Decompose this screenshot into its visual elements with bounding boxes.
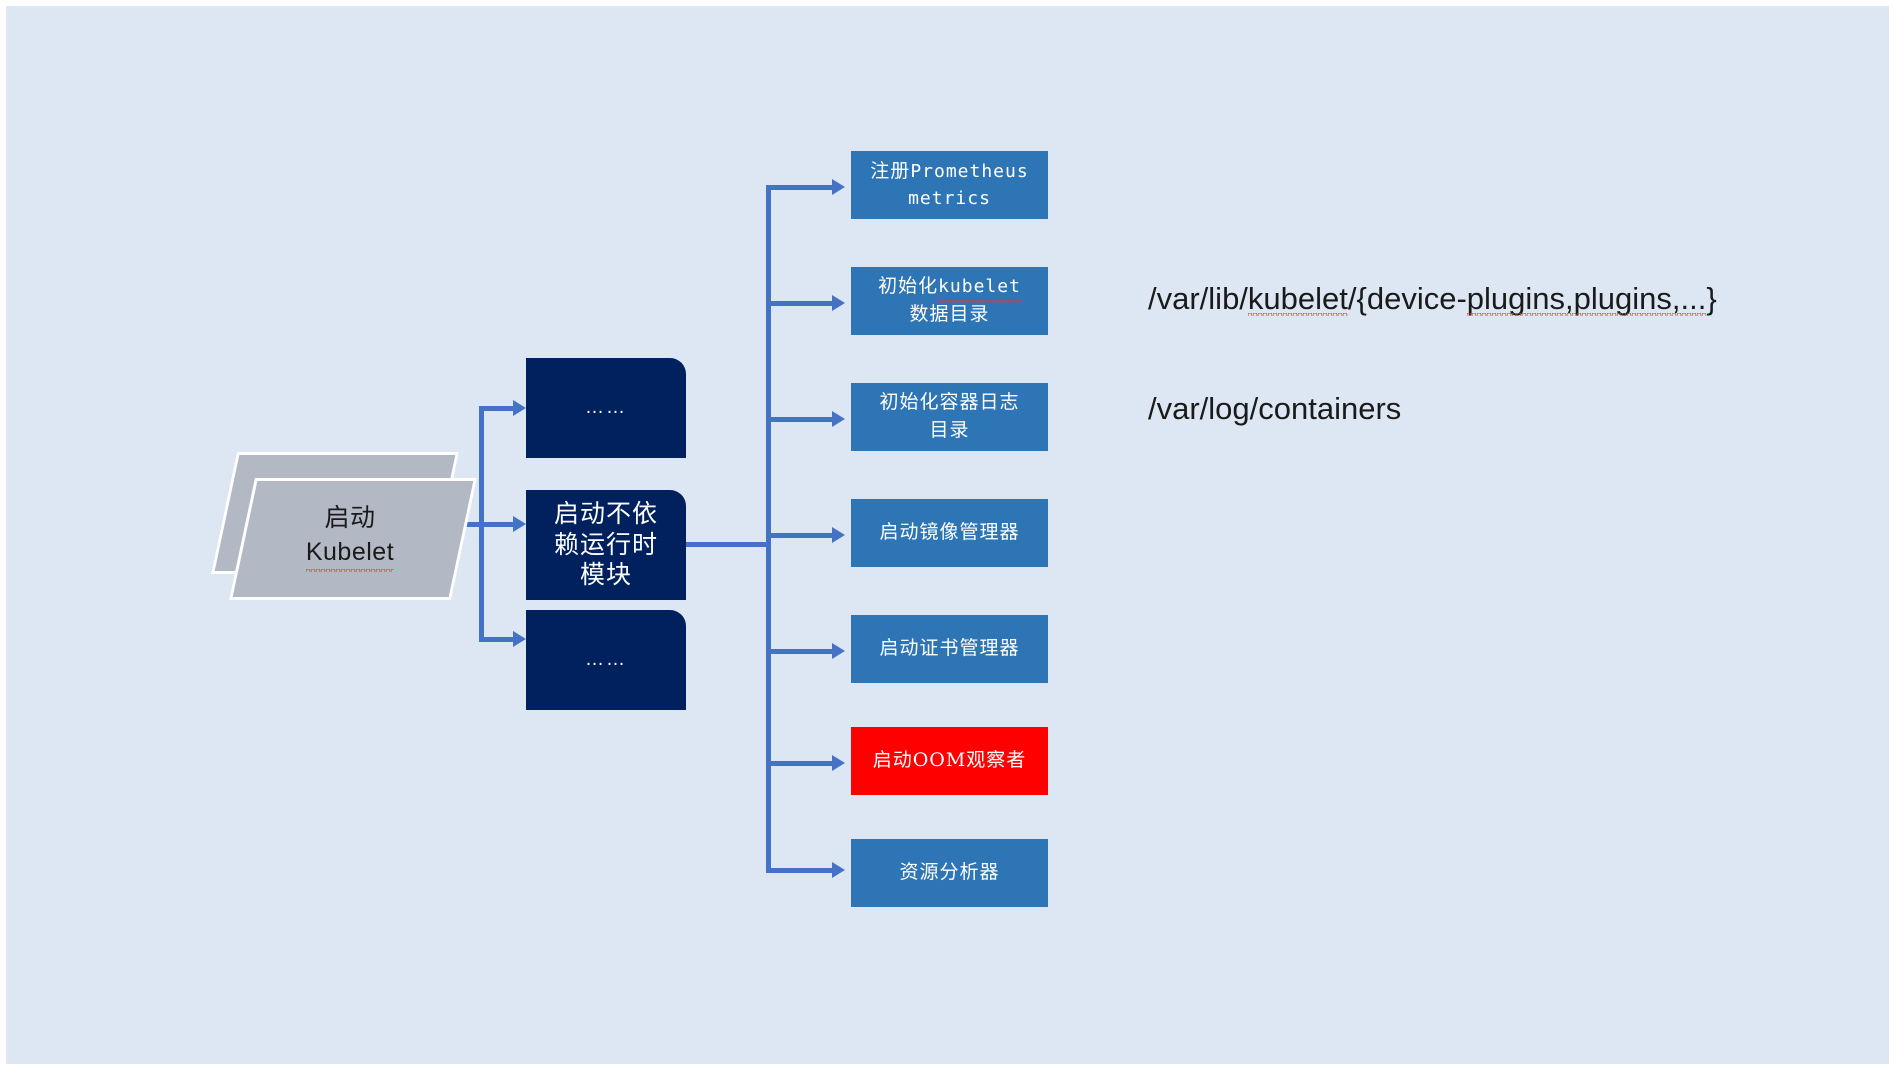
- stage-node-label: ……: [585, 648, 627, 671]
- connector-branch-task-0: [766, 185, 838, 190]
- task-node-line1: 注册Prometheus: [870, 158, 1028, 186]
- start-node-line2-wrap: Kubelet: [306, 536, 394, 570]
- task-node-init-kubelet-data-dir[interactable]: 初始化kubelet 数据目录: [851, 267, 1048, 335]
- stage-node-ellipsis-top[interactable]: ……: [526, 358, 686, 458]
- start-node-line2: Kubelet: [306, 538, 394, 566]
- arrowhead-task-4: [832, 643, 845, 659]
- arrowhead-navy-1: [513, 516, 526, 532]
- annotation-kubelet-data-path: /var/lib/kubelet/{device-plugins,plugins…: [1148, 281, 1717, 317]
- start-node-label: 启动 Kubelet: [242, 478, 458, 594]
- task-node-line1-en: kubelet: [938, 276, 1021, 297]
- task-node-line2: 数据目录: [909, 301, 989, 329]
- task-node-label-group: 初始化容器日志 目录: [879, 389, 1019, 444]
- task-node-line1: 启动证书管理器: [879, 635, 1019, 663]
- arrowhead-task-2: [832, 411, 845, 427]
- connector-branch-task-4: [766, 649, 838, 654]
- start-node-line1: 启动: [324, 502, 375, 536]
- task-node-line1: 启动镜像管理器: [879, 519, 1019, 547]
- spellcheck-squiggle-icon: [1467, 313, 1707, 317]
- task-node-line2: 目录: [929, 417, 969, 445]
- arrowhead-navy-0: [513, 400, 526, 416]
- connector-branch-task-3: [766, 533, 838, 538]
- annotation-underlined-2-wrap: plugins,plugins,...: [1467, 281, 1707, 317]
- spellcheck-squiggle-icon: [938, 300, 1021, 304]
- task-node-register-prometheus-metrics[interactable]: 注册Prometheus metrics: [851, 151, 1048, 219]
- stage-node-label: ……: [585, 396, 627, 419]
- stage-node-line2: 赖运行时: [554, 530, 658, 561]
- task-node-line1: 启动OOM观察者: [873, 747, 1027, 775]
- annotation-part-2: /{device-: [1348, 281, 1467, 316]
- diagram-canvas: 启动 Kubelet …… 启动不依 赖运行时 模块 …… 注册Promethe…: [6, 6, 1889, 1064]
- connector-branch-task-6: [766, 868, 838, 873]
- stage-node-start-runtime-independent-modules[interactable]: 启动不依 赖运行时 模块: [526, 490, 686, 600]
- arrowhead-task-1: [832, 295, 845, 311]
- spellcheck-squiggle-icon: [1248, 313, 1348, 317]
- spellcheck-squiggle-icon: [306, 569, 394, 573]
- task-node-init-container-log-dir[interactable]: 初始化容器日志 目录: [851, 383, 1048, 451]
- annotation-part-3: }: [1706, 281, 1716, 316]
- connector-navy-to-right-trunk: [686, 542, 771, 547]
- task-node-line1-en: Prometheus: [910, 161, 1028, 182]
- annotation-underlined-1-wrap: kubelet: [1248, 281, 1348, 317]
- task-node-line2: metrics: [908, 186, 991, 212]
- task-node-label-group: 注册Prometheus metrics: [870, 158, 1028, 212]
- annotation-underlined-1: kubelet: [1248, 281, 1348, 316]
- task-node-start-image-manager[interactable]: 启动镜像管理器: [851, 499, 1048, 567]
- arrowhead-task-0: [832, 179, 845, 195]
- annotation-part-1: /var/lib/: [1148, 281, 1248, 316]
- task-node-line1: 资源分析器: [899, 859, 999, 887]
- task-node-line1-cn: 初始化: [878, 275, 938, 297]
- task-node-start-oom-watcher[interactable]: 启动OOM观察者: [851, 727, 1048, 795]
- arrowhead-task-5: [832, 755, 845, 771]
- connector-right-trunk: [766, 185, 771, 873]
- task-node-start-certificate-manager[interactable]: 启动证书管理器: [851, 615, 1048, 683]
- connector-branch-task-1: [766, 301, 838, 306]
- stage-node-label-group: 启动不依 赖运行时 模块: [554, 499, 658, 591]
- task-node-line1-cn: 注册: [870, 160, 910, 182]
- connector-branch-task-2: [766, 417, 838, 422]
- task-node-label-group: 初始化kubelet 数据目录: [878, 273, 1021, 328]
- annotation-text: /var/log/containers: [1148, 391, 1401, 426]
- stage-node-line3: 模块: [580, 560, 632, 591]
- arrowhead-task-3: [832, 527, 845, 543]
- task-node-resource-analyzer[interactable]: 资源分析器: [851, 839, 1048, 907]
- task-node-line1-en-wrap: kubelet: [938, 274, 1021, 300]
- annotation-underlined-2: plugins,plugins,...: [1467, 281, 1707, 316]
- task-node-line1: 初始化kubelet: [878, 273, 1021, 301]
- arrowhead-task-6: [832, 862, 845, 878]
- arrowhead-navy-2: [513, 631, 526, 647]
- connector-branch-task-5: [766, 761, 838, 766]
- task-node-line1: 初始化容器日志: [879, 389, 1019, 417]
- annotation-container-log-path: /var/log/containers: [1148, 391, 1401, 427]
- stage-node-ellipsis-bottom[interactable]: ……: [526, 610, 686, 710]
- stage-node-line1: 启动不依: [554, 499, 658, 530]
